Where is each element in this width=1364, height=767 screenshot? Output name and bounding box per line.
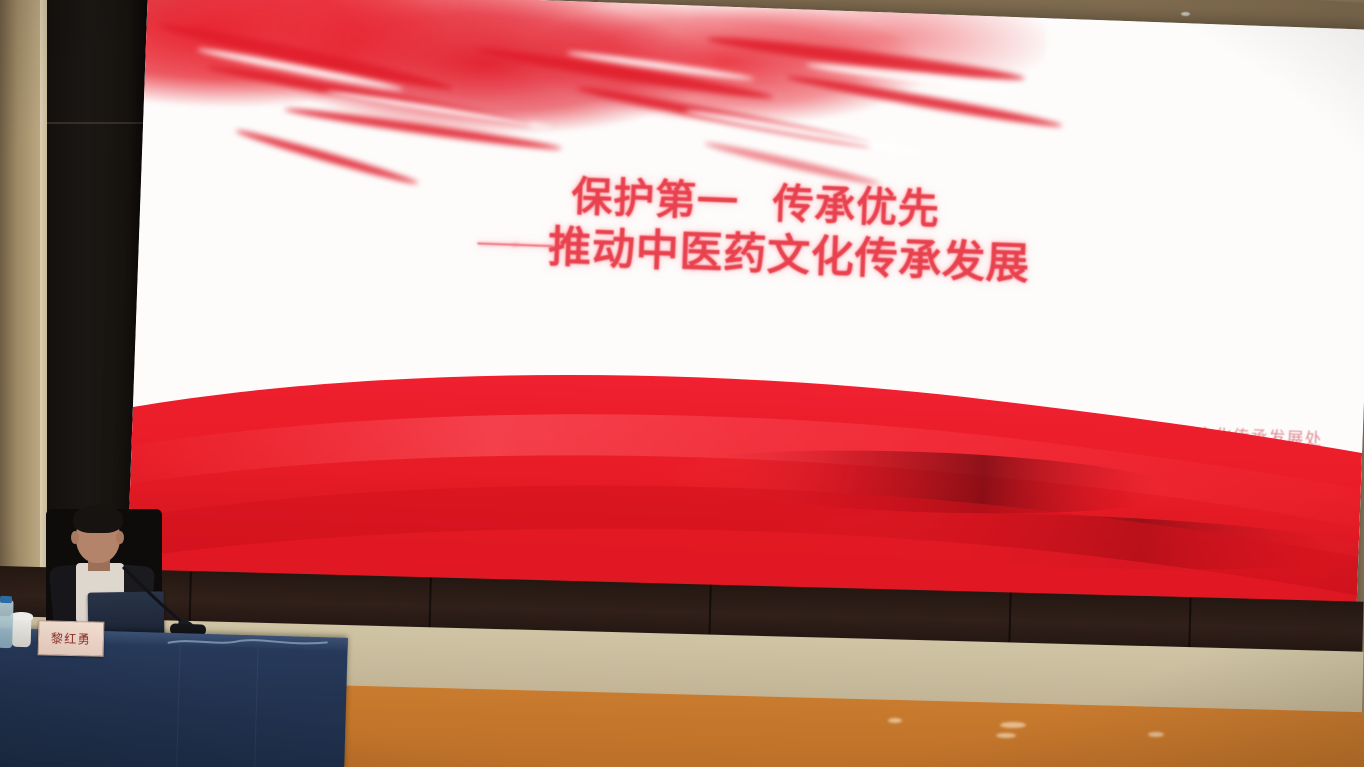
teacup (12, 617, 32, 647)
water-bottle (0, 600, 14, 648)
floor-reflection (996, 733, 1016, 738)
screenshot-canvas: 保护第一传承优先 ——推动中医药文化传承发展 中共四川省委宣传部文化传承发展处 … (0, 0, 1364, 767)
ceiling-light (1181, 12, 1190, 16)
em-dash: —— (477, 216, 549, 267)
presentation-screen: 保护第一传承优先 ——推动中医药文化传承发展 中共四川省委宣传部文化传承发展处 … (126, 0, 1364, 640)
dark-column-seam (47, 122, 149, 124)
nameplate-text: 黎红勇 (51, 630, 92, 648)
table-skirt-fold (176, 645, 181, 767)
floor-reflection (888, 718, 902, 723)
hair (73, 505, 123, 533)
ear-left (71, 531, 79, 544)
slide-title-part-1: 保护第一 (571, 173, 740, 225)
floor-reflection (1148, 732, 1164, 737)
slide-canvas: 保护第一传承优先 ——推动中医药文化传承发展 中共四川省委宣传部文化传承发展处 … (126, 0, 1364, 640)
speaker-nameplate: 黎红勇 (38, 620, 105, 657)
table-skirt-fold (254, 647, 259, 767)
slide-title-part-2: 传承优先 (772, 180, 941, 232)
water-bottle-cap (0, 596, 12, 603)
floor-reflection (1000, 722, 1026, 728)
teacup-lid (10, 612, 33, 621)
slide-title: 保护第一传承优先 ——推动中医药文化传承发展 (138, 156, 1364, 304)
ear-right (116, 531, 124, 544)
